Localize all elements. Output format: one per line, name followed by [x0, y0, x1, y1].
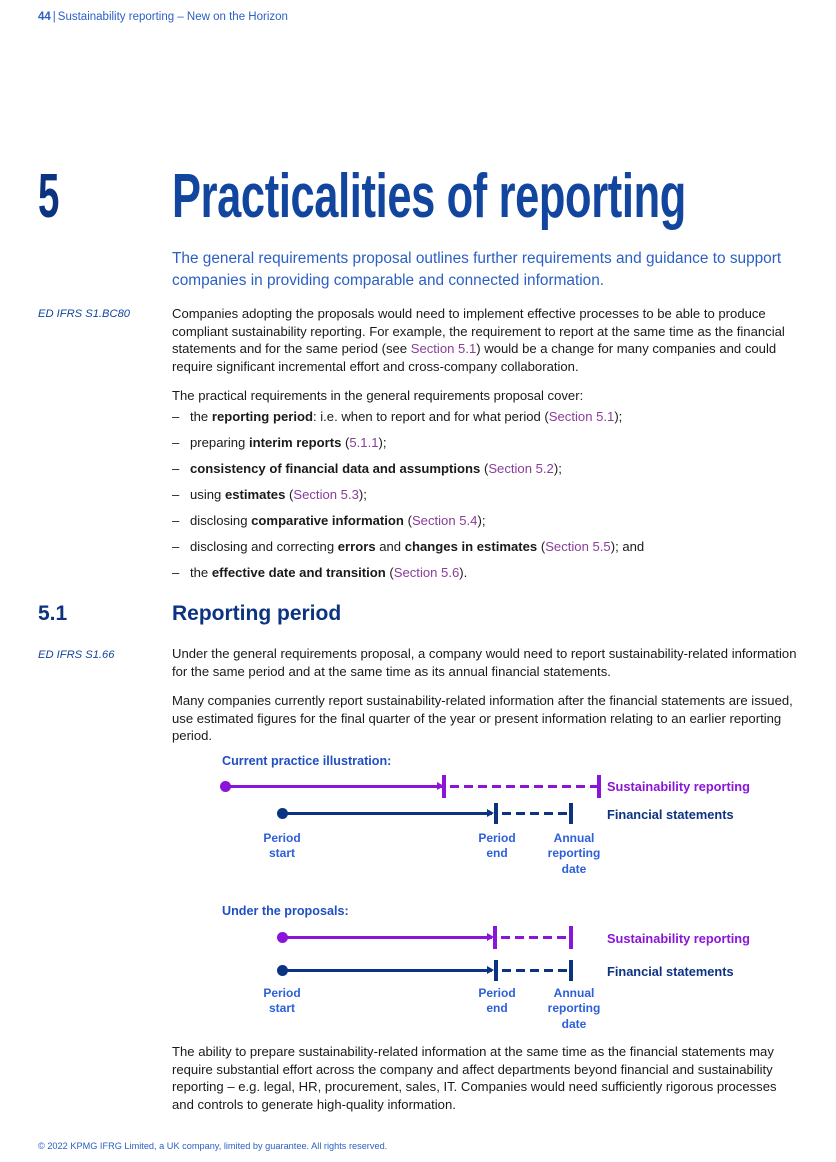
list-item-bold: errors [338, 539, 376, 554]
list-item-pre: disclosing [190, 513, 251, 528]
diagram-caption: Current practice illustration: [222, 754, 391, 768]
axis-label-line: Period [242, 986, 322, 1001]
link-section-5-1[interactable]: Section 5.1 [411, 341, 477, 356]
axis-label-line: Period [242, 831, 322, 846]
list-item-post: ); [359, 487, 367, 502]
chapter-standfirst: The general requirements proposal outlin… [172, 248, 797, 292]
timeline-dashed-sustainability [501, 936, 570, 939]
timeline-dashed-sustainability [450, 785, 598, 788]
timeline-tick-reporting-date-sustainability [569, 926, 573, 949]
list-item-mid: ( [404, 513, 412, 528]
series-label-sustainability-reporting: Sustainability reporting [607, 779, 750, 794]
axis-label-line: reporting [532, 1001, 616, 1016]
header-document-title: Sustainability reporting – New on the Ho… [58, 11, 288, 23]
margin-note-s166: ED IFRS S1.66 [38, 648, 114, 663]
chapter-number: 5 [38, 166, 59, 228]
bullet-dash: – [172, 564, 179, 582]
timeline-arrowhead-financial [487, 809, 494, 817]
list-item-post: ); [477, 513, 485, 528]
section-paragraph-2: Many companies currently report sustaina… [172, 692, 797, 745]
footer-copyright: © 2022 KPMG IFRG Limited, a UK company, … [38, 1141, 387, 1151]
section-body: Under the general requirements proposal,… [172, 645, 797, 745]
axis-label-annual-reporting-date: Annual reporting date [532, 831, 616, 877]
axis-label-period-end: Period end [457, 831, 537, 862]
list-item-link[interactable]: 5.1.1 [349, 435, 378, 450]
list-item-link[interactable]: Section 5.2 [488, 461, 554, 476]
bullet-dash: – [172, 538, 179, 556]
page-number: 44 [38, 11, 51, 23]
timeline-tick-reporting-date-financial [569, 960, 573, 981]
list-item-mid: : i.e. when to report and for what perio… [313, 409, 549, 424]
header-separator: | [51, 11, 58, 23]
axis-label-line: start [242, 846, 322, 861]
axis-label-line: start [242, 1001, 322, 1016]
list-item-pre: preparing [190, 435, 249, 450]
list-item-link[interactable]: Section 5.5 [545, 539, 611, 554]
list-item: – the effective date and transition (Sec… [172, 564, 797, 582]
list-item-post: ); and [611, 539, 644, 554]
bullet-dash: – [172, 512, 179, 530]
section-paragraph-1: Under the general requirements proposal,… [172, 645, 797, 680]
diagram-caption: Under the proposals: [222, 904, 349, 918]
list-item-link[interactable]: Section 5.1 [549, 409, 615, 424]
axis-label-line: end [457, 1001, 537, 1016]
list-item-mid-2: ( [537, 539, 545, 554]
list-item-bold-2: changes in estimates [405, 539, 537, 554]
axis-label-line: Period [457, 831, 537, 846]
axis-label-line: reporting [532, 846, 616, 861]
list-item-pre: disclosing and correcting [190, 539, 338, 554]
margin-note-bc80: ED IFRS S1.BC80 [38, 307, 130, 322]
list-item-link[interactable]: Section 5.6 [394, 565, 460, 580]
list-item-post: ). [459, 565, 467, 580]
timeline-tick-period-end-sustainability [442, 775, 446, 798]
list-item-post: ); [614, 409, 622, 424]
list-item: – preparing interim reports (5.1.1); [172, 434, 797, 452]
document-page: 44|Sustainability reporting – New on the… [0, 0, 836, 1162]
bullet-dash: – [172, 486, 179, 504]
list-item: – disclosing and correcting errors and c… [172, 538, 797, 556]
list-item: – using estimates (Section 5.3); [172, 486, 797, 504]
intro-paragraph-1: Companies adopting the proposals would n… [172, 305, 797, 375]
series-label-financial-statements: Financial statements [607, 964, 734, 979]
practical-requirements-list: – the reporting period: i.e. when to rep… [172, 408, 797, 590]
axis-label-period-start: Period start [242, 831, 322, 862]
section-title: Reporting period [172, 602, 341, 626]
list-item-link[interactable]: Section 5.3 [293, 487, 359, 502]
list-item-bold: estimates [225, 487, 285, 502]
timeline-solid-financial [283, 812, 492, 815]
axis-label-annual-reporting-date: Annual reporting date [532, 986, 616, 1032]
bullet-dash: – [172, 408, 179, 426]
bullet-dash: – [172, 460, 179, 478]
timeline-solid-sustainability [283, 936, 492, 939]
axis-label-period-end: Period end [457, 986, 537, 1017]
list-item-link[interactable]: Section 5.4 [412, 513, 478, 528]
list-item-pre: the [190, 409, 212, 424]
series-label-financial-statements: Financial statements [607, 807, 734, 822]
closing-paragraph: The ability to prepare sustainability-re… [172, 1043, 797, 1113]
list-item-mid: ( [386, 565, 394, 580]
timeline-dashed-financial [502, 969, 570, 972]
axis-label-line: Annual [532, 986, 616, 1001]
list-item-bold: consistency of financial data and assump… [190, 461, 480, 476]
timeline-tick-reporting-date-sustainability [597, 775, 601, 798]
list-item-bold: reporting period [212, 409, 313, 424]
list-item-post: ); [554, 461, 562, 476]
axis-label-line: Annual [532, 831, 616, 846]
list-item-bold: effective date and transition [212, 565, 386, 580]
timeline-tick-period-end-financial [494, 803, 498, 824]
timeline-tick-reporting-date-financial [569, 803, 573, 824]
axis-label-line: end [457, 846, 537, 861]
axis-label-line: date [532, 862, 616, 877]
closing-body: The ability to prepare sustainability-re… [172, 1043, 797, 1113]
timeline-solid-sustainability [226, 785, 442, 788]
list-item: – disclosing comparative information (Se… [172, 512, 797, 530]
list-item-post: ); [379, 435, 387, 450]
list-item-pre: the [190, 565, 212, 580]
list-item-bold: comparative information [251, 513, 404, 528]
section-number: 5.1 [38, 602, 67, 626]
list-item: – consistency of financial data and assu… [172, 460, 797, 478]
timeline-tick-period-end-sustainability [493, 926, 497, 949]
list-item-pre: using [190, 487, 225, 502]
axis-label-line: date [532, 1017, 616, 1032]
chapter-title: Practicalities of reporting [172, 166, 686, 228]
intro-body: Companies adopting the proposals would n… [172, 305, 797, 405]
series-label-sustainability-reporting: Sustainability reporting [607, 931, 750, 946]
intro-paragraph-2: The practical requirements in the genera… [172, 387, 797, 405]
bullet-dash: – [172, 434, 179, 452]
timeline-arrowhead-financial [487, 966, 494, 974]
timeline-dashed-financial [502, 812, 570, 815]
list-item-mid: and [376, 539, 405, 554]
list-item-bold: interim reports [249, 435, 341, 450]
timeline-tick-period-end-financial [494, 960, 498, 981]
axis-label-period-start: Period start [242, 986, 322, 1017]
axis-label-line: Period [457, 986, 537, 1001]
list-item: – the reporting period: i.e. when to rep… [172, 408, 797, 426]
running-header: 44|Sustainability reporting – New on the… [38, 11, 288, 23]
timeline-solid-financial [283, 969, 492, 972]
